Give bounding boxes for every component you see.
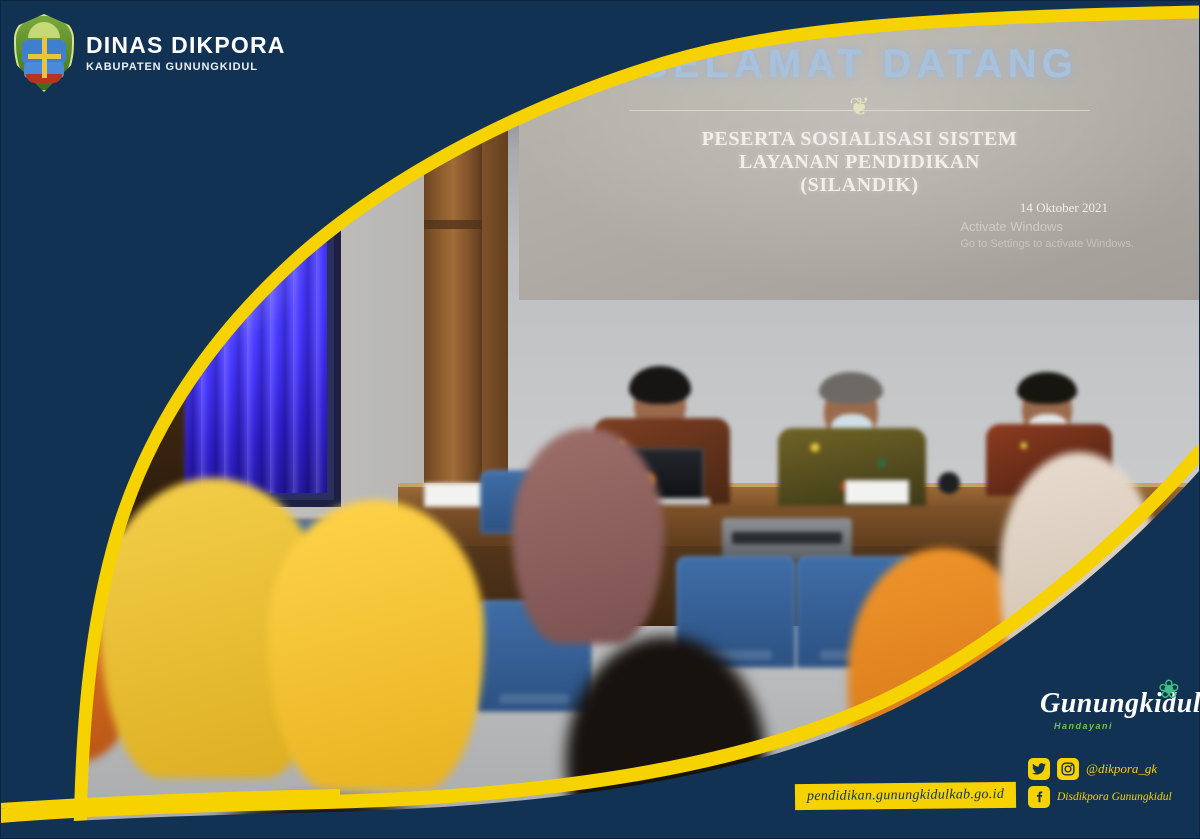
facebook-handle[interactable]: Disdikpora Gunungkidul [1057,791,1172,803]
gunungkidul-regency-crest-icon [14,14,74,92]
batik-flourish-icon: ❀ [1158,676,1192,706]
social-row-top: @dikpora_gk [1028,758,1200,780]
instagram-handle[interactable]: @dikpora_gk [1086,761,1157,777]
organization-name: DINAS DIKPORA [86,34,286,57]
twitter-icon[interactable] [1028,758,1050,780]
website-url-ribbon[interactable]: pendidikan.gunungkidulkab.go.id [795,782,1016,810]
gunungkidul-wordmark: ❀ Gunungkidul Handayani [1040,690,1190,731]
gunungkidul-brand-tagline: Handayani [1054,721,1190,731]
poster-frame: SELAMAT DATANG ❦ PESERTA SOSIALISASI SIS… [0,0,1200,839]
organization-brand: DINAS DIKPORA KABUPATEN GUNUNGKIDUL [14,14,286,92]
instagram-icon[interactable] [1057,758,1079,780]
facebook-icon[interactable] [1028,786,1050,808]
social-row-bottom: Disdikpora Gunungkidul [1028,786,1200,808]
decorative-frame [0,0,1200,839]
social-media-links: @dikpora_gk Disdikpora Gunungkidul [1028,758,1200,814]
organization-region: KABUPATEN GUNUNGKIDUL [86,62,286,73]
